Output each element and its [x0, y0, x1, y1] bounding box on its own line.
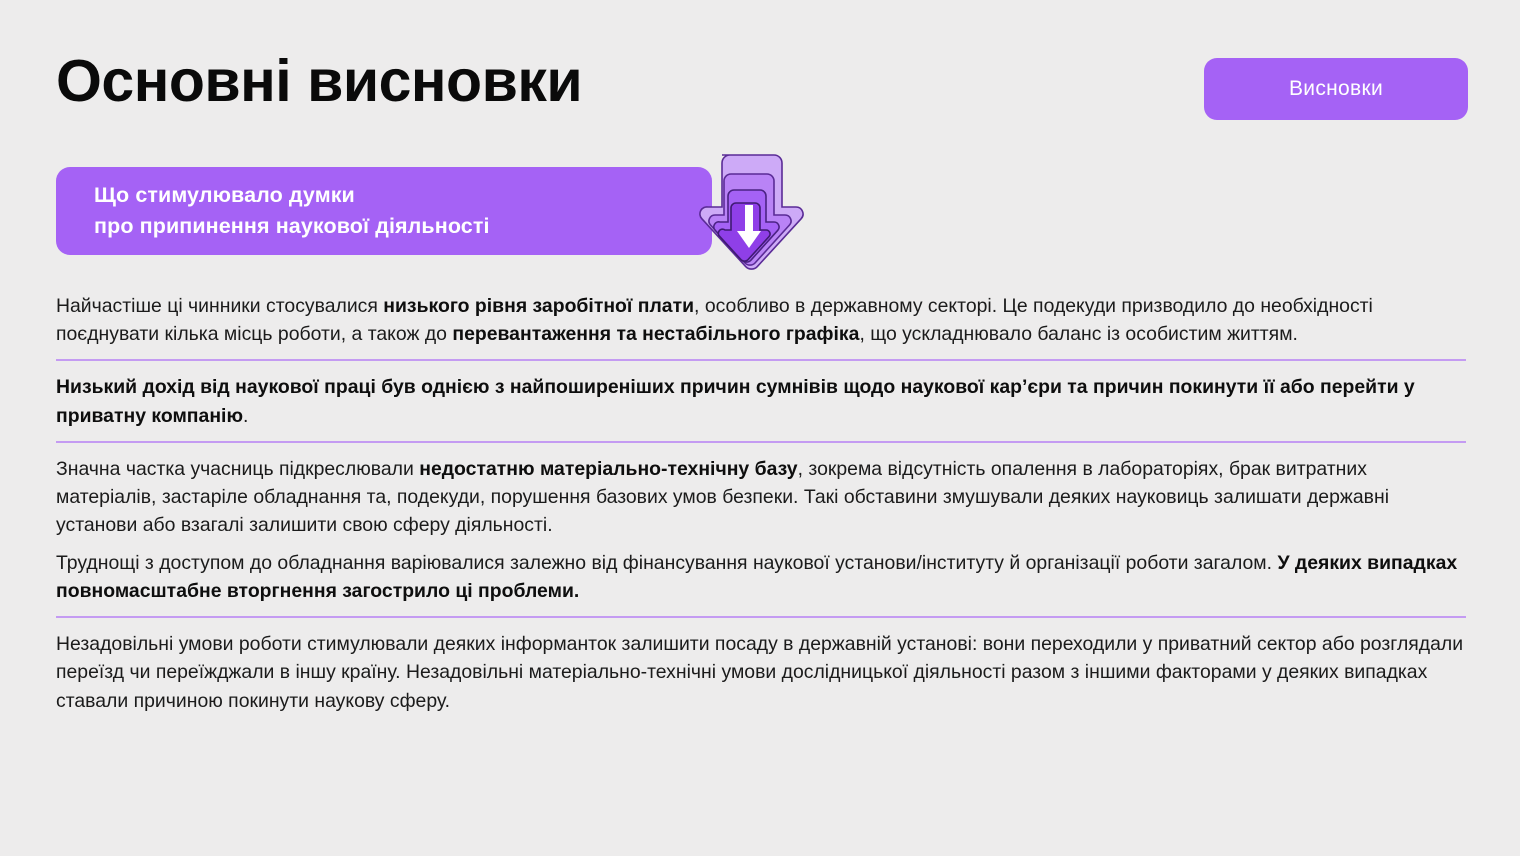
page-title: Основні висновки: [56, 51, 582, 113]
section-divider: [56, 441, 1466, 443]
section-divider: [56, 616, 1466, 618]
finding-text: Найчастіше ці чинники стосувалися низько…: [56, 292, 1468, 348]
finding-text: Незадовільні умови роботи стимулювали де…: [56, 630, 1468, 715]
section-badge-label: Висновки: [1289, 77, 1383, 101]
banner-line-1: Що стимулювало думки: [94, 180, 688, 211]
slide-root: Основні висновки Висновки Що стимулювало…: [0, 0, 1520, 856]
banner-card: Що стимулювало думки про припинення наук…: [56, 167, 712, 255]
finding-item: Значна частка учасниць підкреслювали нед…: [56, 455, 1468, 540]
finding-text: Низький дохід від наукової праці був одн…: [56, 373, 1468, 429]
finding-text: Значна частка учасниць підкреслювали нед…: [56, 455, 1468, 540]
section-divider: [56, 359, 1466, 361]
section-badge: Висновки: [1204, 58, 1468, 120]
banner-line-2: про припинення наукової діяльності: [94, 211, 688, 242]
finding-item: Низький дохід від наукової праці був одн…: [56, 373, 1468, 429]
spacer: [56, 540, 1468, 549]
finding-item: Труднощі з доступом до обладнання варіюв…: [56, 549, 1468, 605]
finding-item: Найчастіше ці чинники стосувалися низько…: [56, 292, 1468, 348]
findings-list: Найчастіше ці чинники стосувалися низько…: [56, 292, 1468, 715]
finding-item: Незадовільні умови роботи стимулювали де…: [56, 630, 1468, 715]
finding-text: Труднощі з доступом до обладнання варіюв…: [56, 549, 1468, 605]
banner-group: Що стимулювало думки про припинення наук…: [56, 167, 716, 255]
